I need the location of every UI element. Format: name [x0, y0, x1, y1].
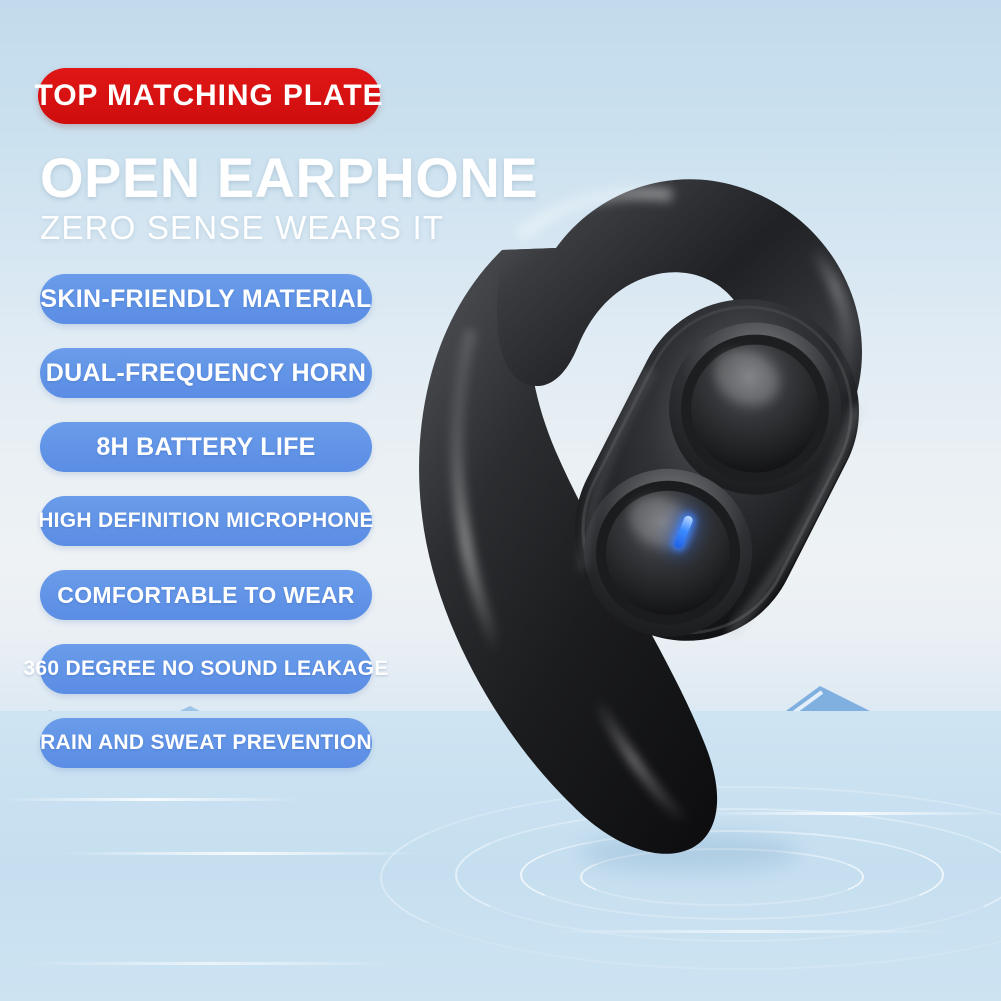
feature-badge-label: 8H BATTERY LIFE [96, 433, 315, 462]
feature-badge: COMFORTABLE TO WEAR [40, 570, 372, 620]
product-promo-image: TOP MATCHING PLATE OPEN EARPHONE ZERO SE… [0, 0, 1001, 1001]
page-title: OPEN EARPHONE [40, 150, 560, 206]
water-streak [0, 798, 300, 801]
water-streak [60, 852, 420, 855]
feature-badge-label: 360 DEGREE NO SOUND LEAKAGE [23, 657, 388, 681]
promo-tag-label: TOP MATCHING PLATE [35, 79, 384, 113]
feature-badge-label: SKIN-FRIENDLY MATERIAL [40, 285, 371, 314]
water-streak [20, 962, 400, 965]
feature-badge-label: COMFORTABLE TO WEAR [57, 582, 354, 609]
feature-badge: SKIN-FRIENDLY MATERIAL [40, 274, 372, 324]
promo-tag-badge: TOP MATCHING PLATE [38, 68, 380, 124]
page-subtitle: ZERO SENSE WEARS IT [40, 211, 560, 244]
feature-badge: DUAL-FREQUENCY HORN [40, 348, 372, 398]
water-streak [700, 812, 1000, 815]
water-streak [540, 930, 960, 933]
feature-badge-label: DUAL-FREQUENCY HORN [46, 359, 367, 388]
feature-badge: 8H BATTERY LIFE [40, 422, 372, 472]
feature-badge: 360 DEGREE NO SOUND LEAKAGE [40, 644, 372, 694]
feature-badge: HIGH DEFINITION MICROPHONE [40, 496, 372, 546]
feature-badge-list: SKIN-FRIENDLY MATERIAL DUAL-FREQUENCY HO… [40, 274, 372, 792]
feature-badge-label: HIGH DEFINITION MICROPHONE [38, 509, 374, 533]
feature-badge: RAIN AND SWEAT PREVENTION [40, 718, 372, 768]
feature-badge-label: RAIN AND SWEAT PREVENTION [40, 731, 372, 755]
